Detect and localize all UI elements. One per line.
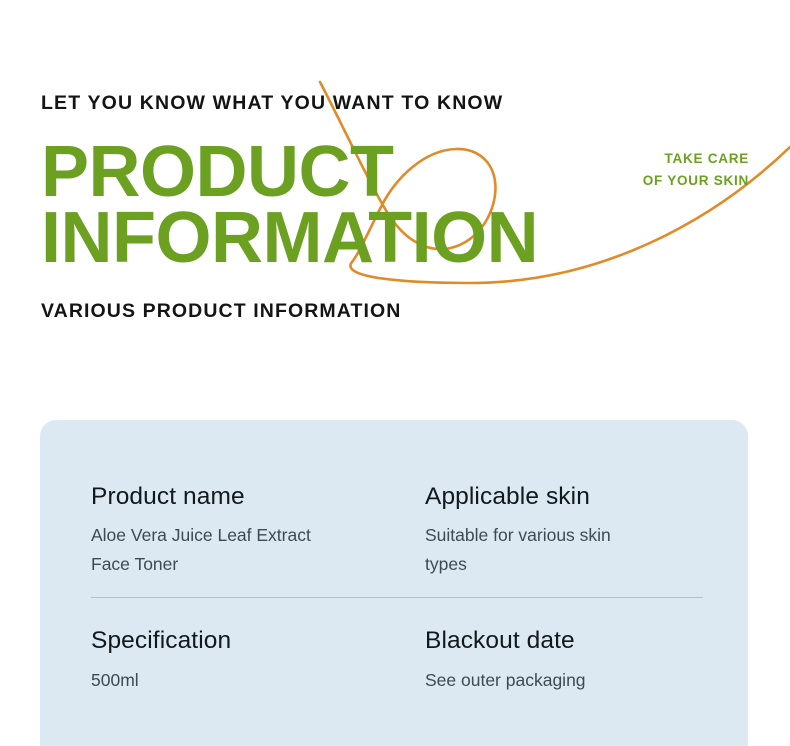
product-information-page: LET YOU KNOW WHAT YOU WANT TO KNOW PRODU… xyxy=(0,0,790,746)
info-cell-blackout-date: Blackout date See outer packaging xyxy=(397,626,703,694)
page-header: LET YOU KNOW WHAT YOU WANT TO KNOW PRODU… xyxy=(41,92,751,323)
info-row: Specification 500ml Blackout date See ou… xyxy=(91,597,703,694)
info-label: Blackout date xyxy=(425,626,703,655)
info-cell-specification: Specification 500ml xyxy=(91,626,397,694)
header-eyebrow: LET YOU KNOW WHAT YOU WANT TO KNOW xyxy=(41,92,751,115)
info-row: Product name Aloe Vera Juice Leaf Extrac… xyxy=(91,482,703,579)
info-cell-product-name: Product name Aloe Vera Juice Leaf Extrac… xyxy=(91,482,397,579)
info-label: Applicable skin xyxy=(425,482,703,511)
tagline-line-2: OF YOUR SKIN xyxy=(643,170,749,192)
info-value: Suitable for various skin types xyxy=(425,521,655,579)
info-value: See outer packaging xyxy=(425,666,655,695)
info-value: Aloe Vera Juice Leaf Extract Face Toner xyxy=(91,521,321,579)
page-title-line-2: INFORMATION xyxy=(41,203,751,274)
info-cell-applicable-skin: Applicable skin Suitable for various ski… xyxy=(397,482,703,579)
tagline-line-1: TAKE CARE xyxy=(643,148,749,170)
info-label: Specification xyxy=(91,626,397,655)
header-subline: VARIOUS PRODUCT INFORMATION xyxy=(41,300,751,323)
tagline: TAKE CARE OF YOUR SKIN xyxy=(643,148,749,193)
product-info-grid: Product name Aloe Vera Juice Leaf Extrac… xyxy=(91,482,703,695)
info-label: Product name xyxy=(91,482,397,511)
info-value: 500ml xyxy=(91,666,321,695)
product-info-card: Product name Aloe Vera Juice Leaf Extrac… xyxy=(40,420,748,746)
